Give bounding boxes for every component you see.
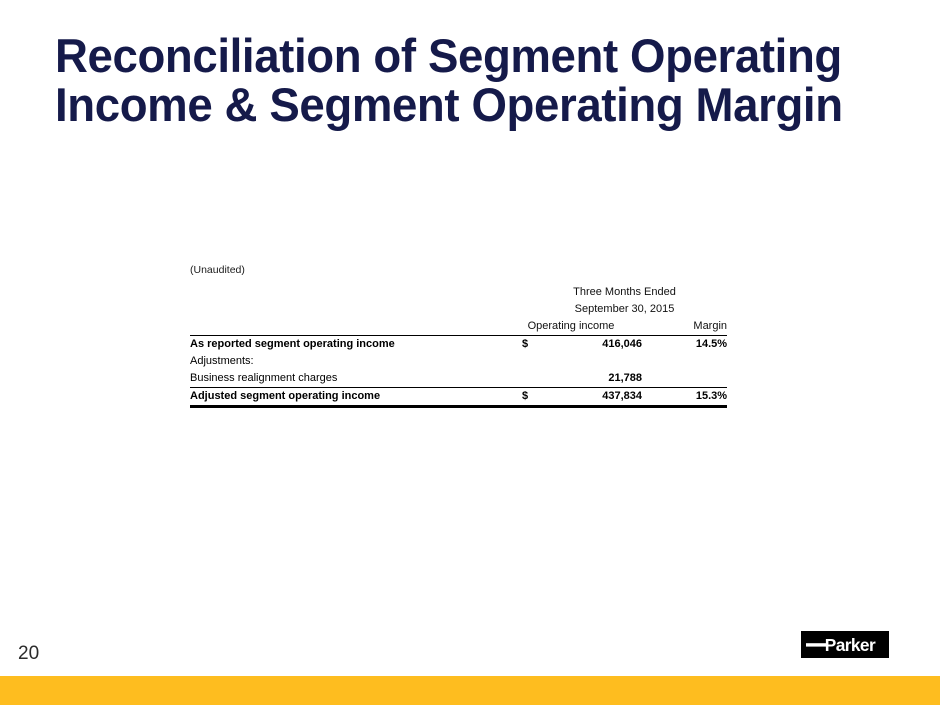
spacer-cell	[190, 318, 522, 336]
row-label-business-realignment: Business realignment charges	[190, 370, 522, 388]
row-currency-as-reported: $	[522, 336, 544, 354]
reconciliation-table-block: (Unaudited) Three Months Ended September…	[190, 263, 727, 408]
row-currency-adjustments	[522, 353, 544, 370]
footer-accent-bar	[0, 676, 940, 705]
row-currency-adjusted: $	[522, 388, 544, 407]
spacer-cell	[190, 301, 522, 318]
row-currency-business-realignment	[522, 370, 544, 388]
row-label-adjusted: Adjusted segment operating income	[190, 388, 522, 407]
row-margin-adjusted: 15.3%	[642, 388, 727, 407]
period-label-line-1: Three Months Ended	[522, 284, 727, 301]
row-amount-adjusted: 437,834	[544, 388, 642, 407]
parker-logo: Parker	[801, 631, 889, 658]
table-header-row: Operating income Margin	[190, 318, 727, 336]
reconciliation-table: Three Months Ended September 30, 2015 Op…	[190, 284, 727, 408]
table-row: Adjustments:	[190, 353, 727, 370]
table-row: As reported segment operating income $ 4…	[190, 336, 727, 354]
table-period-row-1: Three Months Ended	[190, 284, 727, 301]
svg-text:Parker: Parker	[825, 635, 876, 655]
row-margin-as-reported: 14.5%	[642, 336, 727, 354]
row-margin-adjustments	[642, 353, 727, 370]
row-label-adjustments: Adjustments:	[190, 353, 522, 370]
page-title-line-1: Reconciliation of Segment Operating	[55, 31, 821, 80]
unaudited-note: (Unaudited)	[190, 263, 727, 277]
column-header-operating-income: Operating income	[522, 318, 642, 336]
period-label-line-2: September 30, 2015	[522, 301, 727, 318]
row-margin-business-realignment	[642, 370, 727, 388]
parker-logo-icon: Parker	[801, 631, 889, 658]
row-amount-adjustments	[544, 353, 642, 370]
table-period-row-2: September 30, 2015	[190, 301, 727, 318]
page-number: 20	[18, 643, 39, 665]
column-header-margin: Margin	[642, 318, 727, 336]
page-title-line-2: Income & Segment Operating Margin	[55, 80, 821, 129]
spacer-cell	[190, 284, 522, 301]
table-row: Business realignment charges 21,788	[190, 370, 727, 388]
row-label-as-reported: As reported segment operating income	[190, 336, 522, 354]
row-amount-business-realignment: 21,788	[544, 370, 642, 388]
table-row: Adjusted segment operating income $ 437,…	[190, 388, 727, 407]
row-amount-as-reported: 416,046	[544, 336, 642, 354]
page-title: Reconciliation of Segment Operating Inco…	[55, 31, 821, 129]
